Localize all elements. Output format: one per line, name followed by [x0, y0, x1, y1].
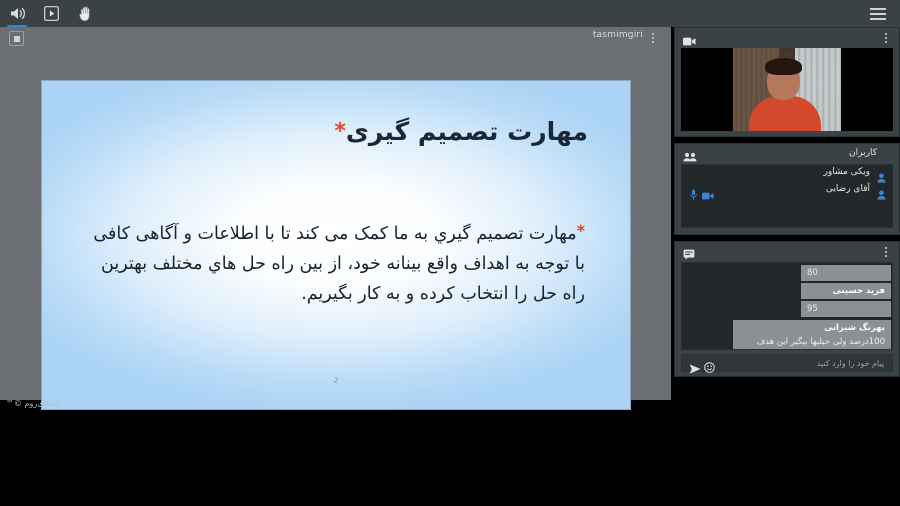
microphone-icon[interactable]: [690, 185, 697, 204]
users-panel-title: کاربران: [849, 148, 877, 158]
dot: [885, 247, 887, 249]
dot: [885, 37, 887, 39]
send-icon[interactable]: [689, 359, 701, 378]
audio-icon[interactable]: [0, 0, 34, 27]
expand-square: [14, 36, 20, 42]
slide-title-asterisk: *: [334, 119, 346, 144]
person-icon: [877, 185, 886, 204]
menu-line: [870, 18, 886, 20]
chat-panel-header: [675, 242, 899, 262]
video-image: [733, 48, 841, 131]
user-name: آقای رضایی: [826, 184, 870, 194]
right-sidebar: کاربران ویکی مشاور: [674, 27, 900, 400]
presentation-stage: tasmimgiri مهارت تصمیم گیری* *مهارت تصمی…: [0, 27, 671, 400]
list-item[interactable]: ویکی مشاور: [682, 165, 892, 182]
slide-body-text: مهارت تصمیم گیري به ما کمک می کند تا با …: [93, 224, 585, 304]
menu-line: [870, 13, 886, 15]
chat-message: 80: [801, 265, 891, 281]
video-feed[interactable]: [681, 48, 893, 131]
emoji-icon[interactable]: [704, 358, 715, 377]
slide-number: 2: [42, 376, 630, 385]
expand-icon[interactable]: [9, 31, 24, 46]
slide-title-text: مهارت تصمیم گیری: [346, 117, 588, 146]
dot: [885, 251, 887, 253]
users-list: ویکی مشاور آقای رضایی: [681, 164, 893, 228]
menu-button[interactable]: [864, 0, 892, 27]
chat-message-sender: بهرنگ شیرانی: [739, 322, 885, 334]
watermark: اسکای‌روم ©™: [6, 399, 59, 408]
chat-panel: 80 فرید حسینی 95 بهرنگ شیرانی 100درصد ول…: [674, 241, 900, 377]
chat-message-sender: فرید حسینی: [801, 283, 891, 299]
dot: [652, 41, 654, 43]
camera-icon[interactable]: [702, 185, 714, 204]
chat-message: 95: [801, 301, 891, 317]
users-panel-header: کاربران: [675, 144, 899, 164]
dot: [885, 41, 887, 43]
dot: [652, 37, 654, 39]
list-item[interactable]: آقای رضایی: [682, 182, 892, 199]
user-name: ویکی مشاور: [824, 167, 870, 177]
chat-input-placeholder: پیام خود را وارد کنید: [817, 359, 884, 368]
stage-options-icon[interactable]: [647, 31, 659, 45]
presentation-icon[interactable]: [34, 0, 68, 27]
stage-header: tasmimgiri: [0, 27, 671, 49]
dot: [885, 255, 887, 257]
chat-message-text: 100درصد ولی خیلیها بیگیر این هدف نمیشن: [739, 336, 885, 350]
participant-hair: [765, 58, 802, 75]
video-panel: [674, 27, 900, 137]
chat-messages[interactable]: 80 فرید حسینی 95 بهرنگ شیرانی 100درصد ول…: [681, 262, 893, 350]
chat-message: بهرنگ شیرانی 100درصد ولی خیلیها بیگیر ای…: [733, 320, 891, 350]
top-toolbar: [0, 0, 900, 27]
app-root: tasmimgiri مهارت تصمیم گیری* *مهارت تصمی…: [0, 0, 900, 506]
slide-canvas[interactable]: مهارت تصمیم گیری* *مهارت تصمیم گیري به م…: [41, 80, 631, 410]
user-media-status: [690, 185, 714, 204]
video-panel-header: [675, 28, 899, 48]
dot: [885, 33, 887, 35]
menu-line: [870, 8, 886, 10]
dot: [652, 33, 654, 35]
slide-body-asterisk: *: [577, 221, 585, 240]
slide-body: *مهارت تصمیم گیري به ما کمک می کند تا با…: [92, 217, 585, 309]
chat-input-bar[interactable]: پیام خود را وارد کنید: [681, 354, 893, 372]
slide-title: مهارت تصمیم گیری*: [102, 117, 588, 146]
raise-hand-icon[interactable]: [68, 0, 102, 27]
video-options-icon[interactable]: [881, 32, 891, 44]
users-panel: کاربران ویکی مشاور: [674, 143, 900, 235]
stage-title: tasmimgiri: [593, 30, 643, 40]
chat-options-icon[interactable]: [881, 246, 891, 258]
